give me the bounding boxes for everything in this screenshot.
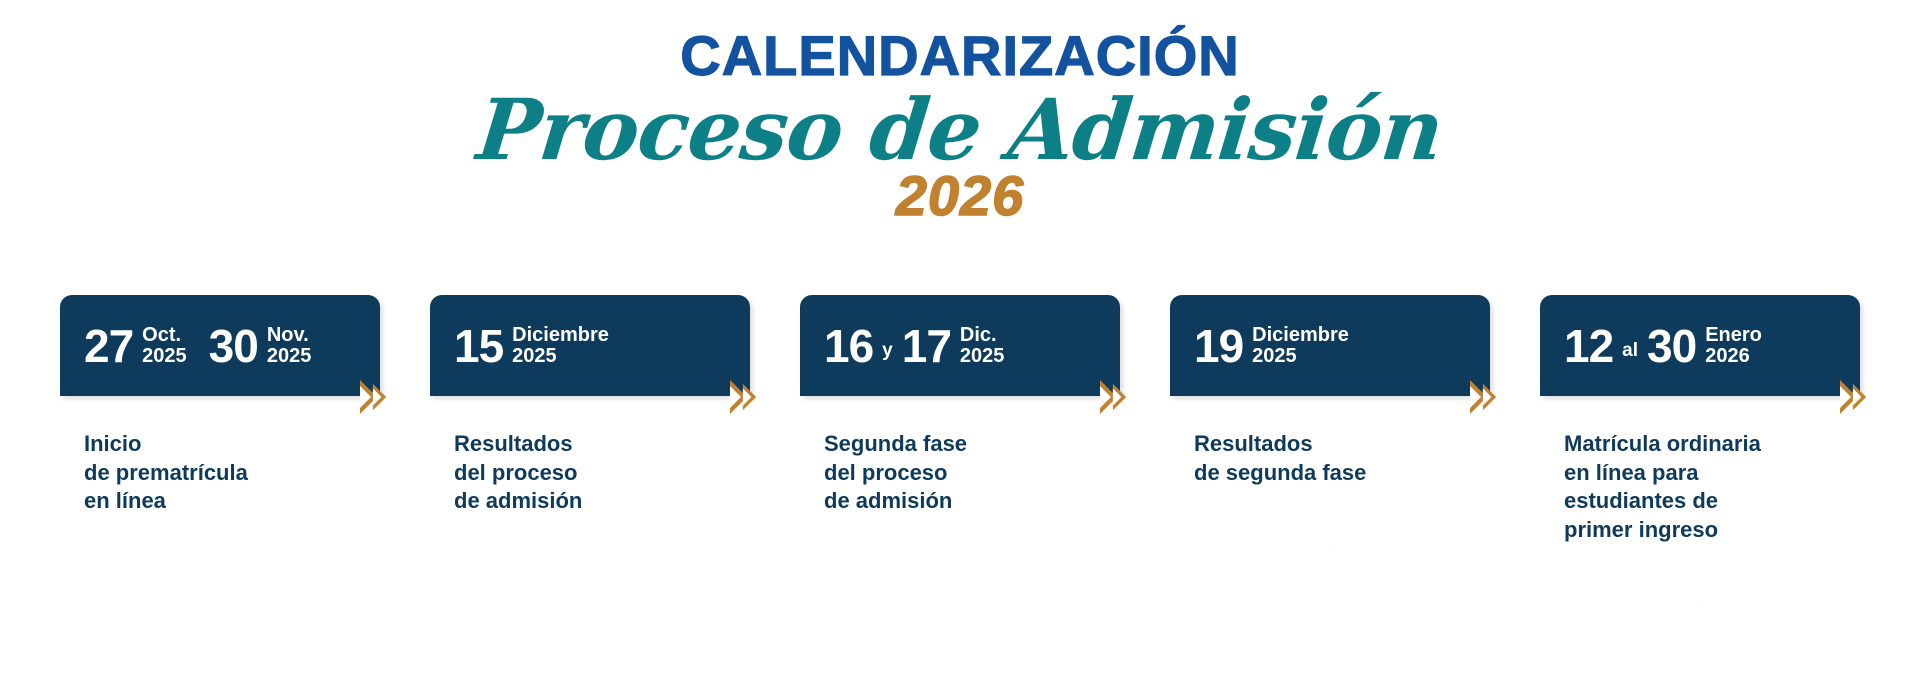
card-text-line-2: del proceso — [824, 459, 1098, 488]
timeline-card: 27 Oct. 2025 30 Nov. 2025 Inicio de prem… — [60, 295, 380, 602]
date-row: 19 Diciembre 2025 — [1194, 323, 1349, 369]
day-number-start: 16 — [824, 323, 873, 369]
chevron-2-icon — [1113, 384, 1126, 411]
date-connector: al — [1622, 341, 1638, 360]
year-label: 2025 — [512, 346, 609, 367]
card-date-header: 12 al 30 Enero 2026 — [1540, 295, 1860, 396]
year-label-secondary: 2025 — [267, 346, 312, 367]
chevron-2-icon — [743, 384, 756, 411]
page-title-block: CALENDARIZACIÓN Proceso de Admisión 2026 — [0, 28, 1920, 224]
month-year-block: Enero 2026 — [1705, 325, 1762, 367]
date-row: 16 y 17 Dic. 2025 — [824, 323, 1004, 369]
card-body: Inicio de prematrícula en línea — [60, 396, 380, 574]
card-date-header: 15 Diciembre 2025 — [430, 295, 750, 396]
card-body: Resultados de segunda fase — [1170, 396, 1490, 545]
card-text-line-1: Resultados — [454, 430, 728, 459]
card-text-line-1: Resultados — [1194, 430, 1468, 459]
year-label: 2025 — [142, 346, 187, 367]
card-text-line-3: de admisión — [454, 487, 728, 516]
chevron-right-icon — [1108, 380, 1128, 414]
chevron-right-icon — [1478, 380, 1498, 414]
card-text-line-2: del proceso — [454, 459, 728, 488]
date-row: 27 Oct. 2025 30 Nov. 2025 — [84, 323, 311, 369]
chevron-2-icon — [1853, 384, 1866, 411]
card-text-line-2: en línea para — [1564, 459, 1838, 488]
admission-calendar-page: { "header": { "title_main": "CALENDARIZA… — [0, 0, 1920, 700]
card-date-header: 27 Oct. 2025 30 Nov. 2025 — [60, 295, 380, 396]
card-date-header: 19 Diciembre 2025 — [1170, 295, 1490, 396]
month-label-secondary: Nov. — [267, 325, 312, 346]
date-connector: y — [882, 341, 893, 360]
card-text-line-2: de prematrícula — [84, 459, 358, 488]
month-year-block: Diciembre 2025 — [1252, 325, 1349, 367]
day-number-start: 12 — [1564, 323, 1613, 369]
day-number-start: 15 — [454, 323, 503, 369]
card-body: Resultados del proceso de admisión — [430, 396, 750, 574]
card-text-line-3: de admisión — [824, 487, 1098, 516]
card-text-line-4: primer ingreso — [1564, 516, 1838, 545]
month-year-block: Diciembre 2025 — [512, 325, 609, 367]
card-text-line-2: de segunda fase — [1194, 459, 1468, 488]
card-text-line-3: estudiantes de — [1564, 487, 1838, 516]
card-text-line-3: en línea — [84, 487, 358, 516]
day-number-end: 30 — [209, 323, 258, 369]
timeline: 27 Oct. 2025 30 Nov. 2025 Inicio de prem… — [60, 295, 1870, 602]
chevron-right-icon — [738, 380, 758, 414]
chevron-2-icon — [1483, 384, 1496, 411]
month-year-block-secondary: Nov. 2025 — [267, 325, 312, 367]
timeline-card: 19 Diciembre 2025 Resultados de segunda … — [1170, 295, 1490, 602]
month-year-block: Dic. 2025 — [960, 325, 1005, 367]
month-label: Diciembre — [512, 325, 609, 346]
chevron-2-icon — [373, 384, 386, 411]
page-title-script: Proceso de Admisión — [0, 86, 1920, 174]
month-year-block: Oct. 2025 — [142, 325, 187, 367]
year-label: 2025 — [960, 346, 1005, 367]
card-body: Segunda fase del proceso de admisión — [800, 396, 1120, 574]
day-number-start: 27 — [84, 323, 133, 369]
card-date-header: 16 y 17 Dic. 2025 — [800, 295, 1120, 396]
month-label: Enero — [1705, 325, 1762, 346]
chevron-right-icon — [368, 380, 388, 414]
card-body: Matrícula ordinaria en línea para estudi… — [1540, 396, 1860, 602]
card-text-line-1: Matrícula ordinaria — [1564, 430, 1838, 459]
month-label: Diciembre — [1252, 325, 1349, 346]
card-text-line-1: Inicio — [84, 430, 358, 459]
day-number-start: 19 — [1194, 323, 1243, 369]
chevron-right-icon — [1848, 380, 1868, 414]
timeline-card: 12 al 30 Enero 2026 Matrícula ordinaria … — [1540, 295, 1860, 602]
month-label: Dic. — [960, 325, 1005, 346]
timeline-card: 16 y 17 Dic. 2025 Segunda fase del proce… — [800, 295, 1120, 602]
card-text-line-1: Segunda fase — [824, 430, 1098, 459]
timeline-card: 15 Diciembre 2025 Resultados del proceso… — [430, 295, 750, 602]
day-number-end: 30 — [1647, 323, 1696, 369]
date-row: 15 Diciembre 2025 — [454, 323, 609, 369]
date-row: 12 al 30 Enero 2026 — [1564, 323, 1762, 369]
year-label: 2026 — [1705, 346, 1762, 367]
month-label: Oct. — [142, 325, 187, 346]
page-title-main: CALENDARIZACIÓN — [0, 28, 1920, 84]
year-label: 2025 — [1252, 346, 1349, 367]
day-number-end: 17 — [902, 323, 951, 369]
